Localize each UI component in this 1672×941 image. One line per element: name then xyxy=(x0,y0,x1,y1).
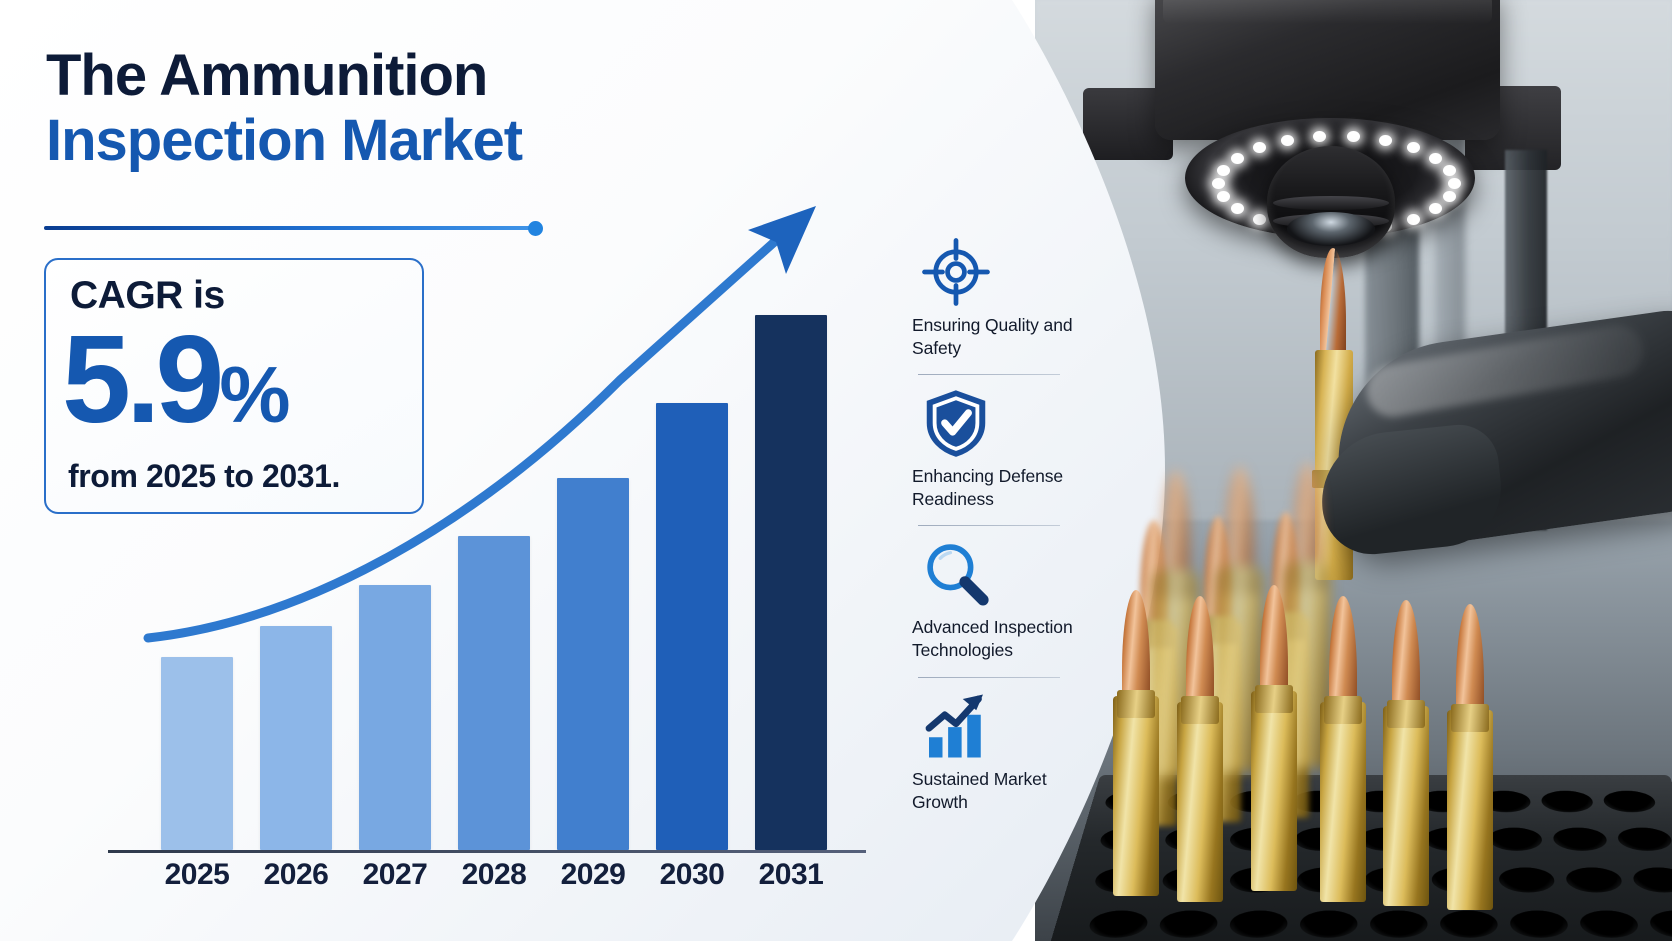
tray-hole xyxy=(1552,828,1609,851)
tray-hole xyxy=(1488,828,1544,851)
year-label-2027: 2027 xyxy=(345,858,445,892)
growth-bar-chart-icon xyxy=(920,690,992,762)
tray-hole xyxy=(1647,911,1672,938)
tray-hole xyxy=(1440,911,1499,938)
shield-check-icon xyxy=(920,387,992,459)
feature-divider-2 xyxy=(918,525,1060,526)
feature-label-quality: Ensuring Quality and Safety xyxy=(912,314,1087,360)
led-light xyxy=(1429,153,1442,164)
tray-hole xyxy=(1299,911,1358,938)
cartridge-case xyxy=(1113,696,1159,896)
year-label-2030: 2030 xyxy=(642,858,742,892)
cartridge-neck xyxy=(1221,566,1259,594)
feature-label-technologies: Advanced Inspection Technologies xyxy=(912,616,1087,662)
tray-hole xyxy=(1370,911,1428,938)
cartridge-neck xyxy=(1181,696,1219,724)
tray-hole xyxy=(1631,867,1672,892)
feature-item-defense[interactable]: Enhancing Defense Readiness xyxy=(912,387,1090,526)
cartridge-neck xyxy=(1387,700,1425,728)
bar-2025 xyxy=(161,657,233,850)
bar-2026 xyxy=(260,626,332,850)
bar-2027 xyxy=(359,585,431,850)
page-title-line1: The Ammunition xyxy=(46,44,746,109)
feature-divider-3 xyxy=(918,677,1060,678)
year-label-2028: 2028 xyxy=(444,858,544,892)
tray-hole xyxy=(1157,911,1219,938)
year-label-2029: 2029 xyxy=(543,858,643,892)
cartridge-case xyxy=(1320,702,1366,902)
led-light xyxy=(1448,178,1461,189)
led-light xyxy=(1407,214,1420,225)
tray-hole xyxy=(1578,911,1641,938)
bar-2030 xyxy=(656,403,728,850)
cartridge-neck xyxy=(1255,685,1293,713)
magnifier-icon xyxy=(920,538,992,610)
bar-2028 xyxy=(458,536,530,850)
feature-item-technologies[interactable]: Advanced Inspection Technologies xyxy=(912,538,1090,677)
page-title-line2: Inspection Market xyxy=(46,109,746,174)
tray-hole xyxy=(1602,791,1658,812)
tray-hole xyxy=(1564,867,1624,892)
infographic-canvas: The Ammunition Inspection Market CAGR is… xyxy=(0,0,1672,941)
cartridge-neck xyxy=(1324,696,1362,724)
tray-hole xyxy=(1086,911,1150,938)
tray-hole xyxy=(1509,911,1570,938)
cartridge-case xyxy=(1447,710,1493,910)
target-crosshair-icon xyxy=(920,236,992,308)
bar-2029 xyxy=(557,478,629,850)
led-light xyxy=(1253,214,1266,225)
feature-item-quality[interactable]: Ensuring Quality and Safety xyxy=(912,236,1090,375)
year-label-2031: 2031 xyxy=(741,858,841,892)
chart-axis-line xyxy=(108,850,866,853)
cartridge-neck xyxy=(1157,570,1195,598)
cartridge-case xyxy=(1251,691,1297,891)
led-light xyxy=(1212,178,1225,189)
cartridge-neck xyxy=(1451,704,1489,732)
tray-hole xyxy=(1228,911,1288,938)
feature-label-growth: Sustained Market Growth xyxy=(912,768,1087,814)
led-light xyxy=(1217,191,1230,202)
bar-2031 xyxy=(755,315,827,850)
tray-hole xyxy=(1498,867,1556,892)
tray-hole xyxy=(1616,828,1672,851)
feature-divider-1 xyxy=(918,374,1060,375)
led-light xyxy=(1443,165,1456,176)
cartridge-case xyxy=(1383,706,1429,906)
led-light xyxy=(1217,165,1230,176)
led-light xyxy=(1231,153,1244,164)
feature-list: Ensuring Quality and Safety Enhancing De… xyxy=(912,236,1090,820)
page-title: The Ammunition Inspection Market xyxy=(46,44,746,174)
lens-glass xyxy=(1287,212,1375,246)
year-label-2025: 2025 xyxy=(147,858,247,892)
cartridge-neck xyxy=(1117,690,1155,718)
year-label-2026: 2026 xyxy=(246,858,346,892)
feature-item-growth[interactable]: Sustained Market Growth xyxy=(912,690,1090,814)
cartridge-case xyxy=(1177,702,1223,902)
tray-hole xyxy=(1540,791,1595,812)
lens-ring-upper xyxy=(1273,196,1389,210)
feature-label-defense: Enhancing Defense Readiness xyxy=(912,465,1087,511)
bar-chart-bars xyxy=(108,200,868,850)
cartridge-neck xyxy=(1289,562,1327,590)
